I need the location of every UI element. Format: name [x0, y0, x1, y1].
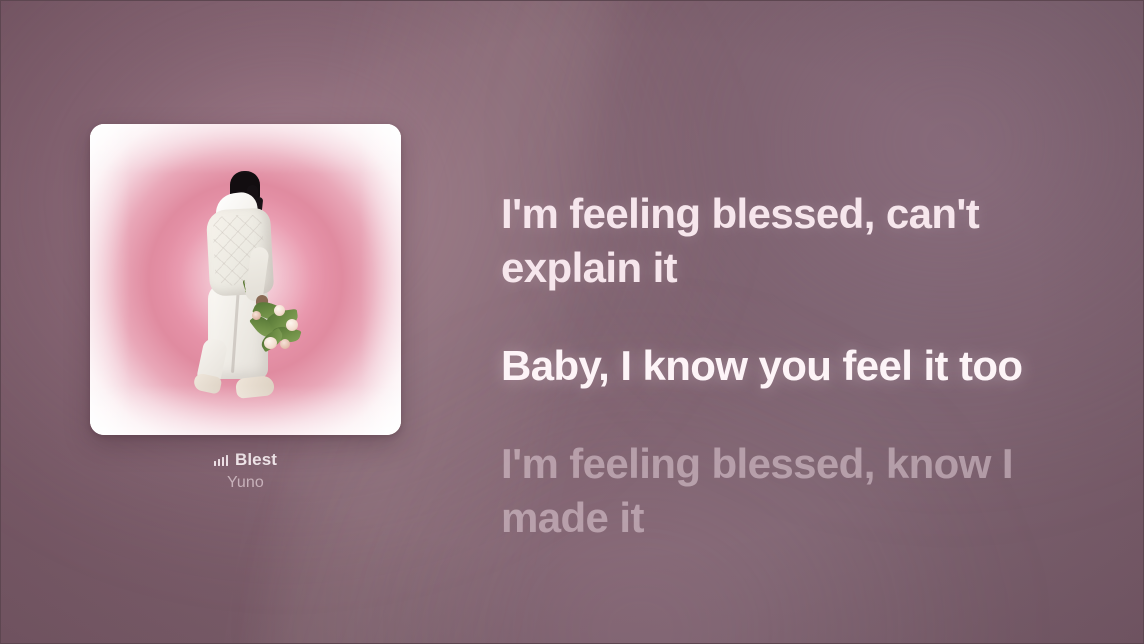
- equalizer-bars-icon: [214, 455, 228, 466]
- album-artwork[interactable]: [90, 124, 401, 435]
- track-artist[interactable]: Yuno: [90, 473, 401, 493]
- lyric-line-previous[interactable]: I'm feeling blessed, can't explain it: [501, 187, 1061, 295]
- track-title-row: Blest: [90, 450, 401, 470]
- track-title: Blest: [235, 450, 277, 470]
- track-metadata: Blest Yuno: [90, 450, 401, 493]
- now-playing-lyrics-window: Blest Yuno I'm feeling blessed, can't ex…: [0, 0, 1144, 644]
- lyric-line-next[interactable]: I'm feeling blessed, know I made it: [501, 437, 1061, 545]
- artwork-edge-highlight: [90, 124, 401, 435]
- track-panel: Blest Yuno: [90, 124, 401, 493]
- lyrics-panel[interactable]: I'm feeling blessed, can't explain it Ba…: [501, 187, 1061, 545]
- lyric-line-active[interactable]: Baby, I know you feel it too: [501, 339, 1061, 393]
